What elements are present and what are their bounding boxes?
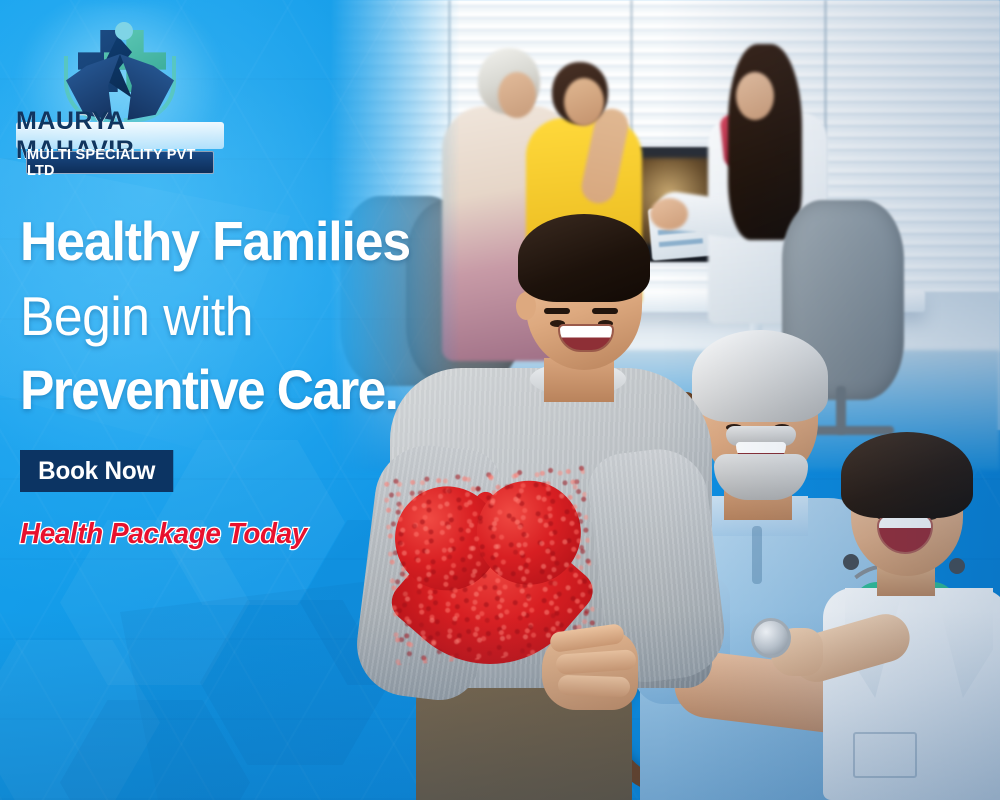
headline-line-2: Begin with [20,289,415,344]
brand-logo[interactable]: MAURYA MAHAVIR MULTI SPECIALITY PVT LTD [12,6,228,176]
promo-banner: MAURYA MAHAVIR MULTI SPECIALITY PVT LTD … [0,0,1000,800]
person-face [498,72,536,118]
person-face [564,78,604,126]
tagline: Health Package Today [20,518,423,551]
copy-block: Healthy Families Begin with Preventive C… [20,214,440,551]
headline-line-3: Preventive Care. [20,362,406,418]
bottom-vignette [0,610,1000,800]
book-now-button[interactable]: Book Now [20,450,173,492]
headline-line-1: Healthy Families [20,214,415,269]
medical-cross-caring-hands-icon [64,8,176,120]
logo-subtitle: MULTI SPECIALITY PVT LTD [26,151,214,174]
logo-name: MAURYA MAHAVIR [16,122,224,149]
